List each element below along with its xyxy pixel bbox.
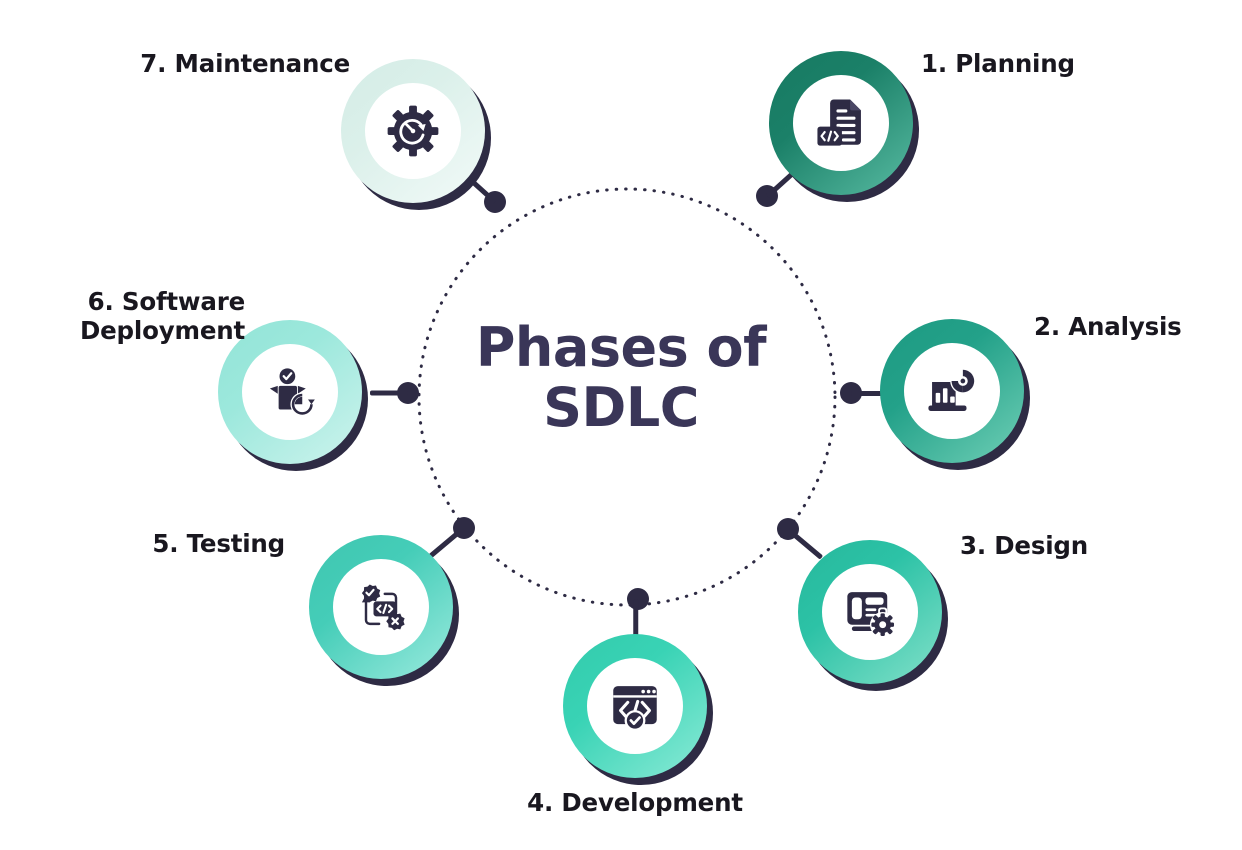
- package-deploy-icon: [262, 364, 318, 420]
- browser-code-check-icon: [606, 677, 664, 735]
- node-maintenance[interactable]: [341, 59, 485, 203]
- node-analysis[interactable]: [880, 319, 1024, 463]
- node-inner-design: [822, 564, 918, 660]
- node-testing[interactable]: [309, 535, 453, 679]
- node-label-testing: 5. Testing: [20, 530, 285, 559]
- sdlc-diagram: Phases of SDLC: [0, 0, 1242, 850]
- node-inner-maintenance: [365, 83, 461, 179]
- node-design[interactable]: [798, 540, 942, 684]
- node-inner-deployment: [242, 344, 338, 440]
- test-cycle-code-icon: [351, 577, 411, 637]
- connector-deployment: [370, 391, 408, 396]
- node-label-planning: 1. Planning: [921, 50, 1171, 79]
- bar-chart-pie-icon: [923, 362, 981, 420]
- node-label-maintenance: 7. Maintenance: [60, 50, 350, 79]
- node-inner-planning: [793, 75, 889, 171]
- node-planning[interactable]: [769, 51, 913, 195]
- node-label-development: 4. Development: [485, 789, 785, 818]
- node-label-design: 3. Design: [960, 532, 1180, 561]
- wireframe-gear-icon: [841, 583, 899, 641]
- node-label-analysis: 2. Analysis: [1034, 313, 1242, 342]
- gear-refresh-icon: [385, 103, 441, 159]
- page-title: Phases of SDLC: [433, 318, 809, 439]
- node-label-deployment: 6. Software Deployment: [0, 288, 245, 346]
- node-development[interactable]: [563, 634, 707, 778]
- document-code-icon: [812, 94, 870, 152]
- node-inner-testing: [333, 559, 429, 655]
- node-inner-development: [587, 658, 683, 754]
- node-inner-analysis: [904, 343, 1000, 439]
